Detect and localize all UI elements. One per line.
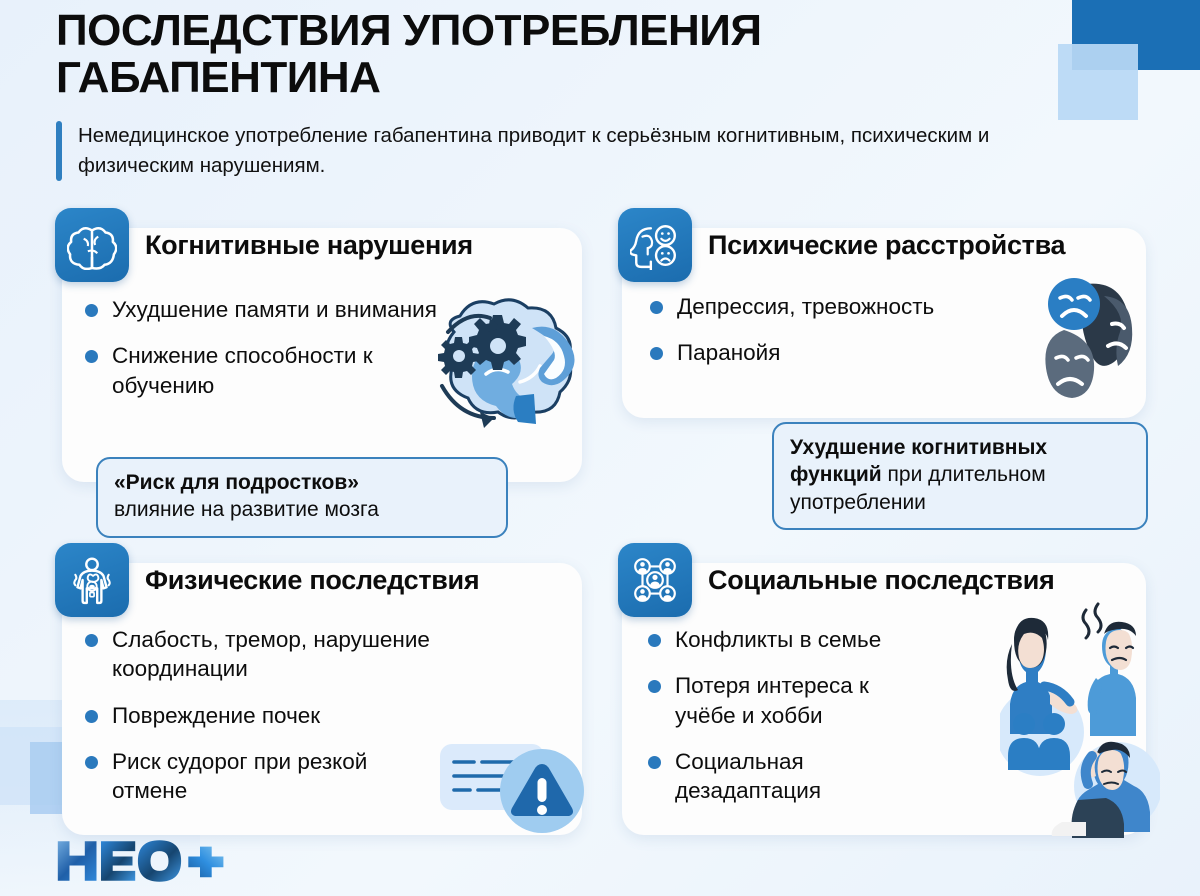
bullet-dot-icon: [648, 680, 661, 693]
list-item: Конфликты в семье: [648, 625, 988, 654]
callout-teen-risk-bold: «Риск для подростков»: [114, 471, 359, 494]
bullet-dot-icon: [650, 301, 663, 314]
decor-top-right-square-light: [1058, 44, 1138, 120]
callout-teen-risk: «Риск для подростков» влияние на развити…: [96, 457, 508, 538]
badge-physical: [55, 543, 129, 617]
bullet-dot-icon: [648, 634, 661, 647]
page-title: ПОСЛЕДСТВИЯ УПОТРЕБЛЕНИЯ ГАБАПЕНТИНА: [56, 8, 1056, 101]
list-item: Депрессия, тревожность: [650, 292, 1050, 321]
callout-teen-risk-rest: влияние на развитие мозга: [114, 498, 379, 521]
bullet-text: Риск судорог при резкой отмене: [112, 747, 402, 806]
list-item: Риск судорог при резкой отмене: [85, 747, 485, 806]
bullet-text: Ухудшение памяти и внимания: [112, 295, 437, 324]
human-body-icon: [67, 555, 117, 605]
brain-icon: [67, 220, 117, 270]
bullet-dot-icon: [648, 756, 661, 769]
bullet-dot-icon: [85, 350, 98, 363]
badge-cognitive: [55, 208, 129, 282]
callout-long-term: Ухудшение когнитивных функций при длител…: [772, 422, 1148, 530]
bullet-dot-icon: [650, 347, 663, 360]
card-title-physical: Физические последствия: [145, 565, 479, 596]
bullet-text: Повреждение почек: [112, 701, 320, 730]
bullet-dot-icon: [85, 634, 98, 647]
head-emotions-icon: [630, 220, 680, 270]
people-network-icon: [630, 555, 680, 605]
bullet-text: Депрессия, тревожность: [677, 292, 934, 321]
list-item: Снижение способности к обучению: [85, 341, 445, 400]
bullet-text: Потеря интереса к учёбе и хобби: [675, 671, 920, 730]
bullet-list-social: Конфликты в семье Потеря интереса к учёб…: [648, 625, 988, 822]
bullet-dot-icon: [85, 756, 98, 769]
list-item: Ухудшение памяти и внимания: [85, 295, 445, 324]
card-title-social: Социальные последствия: [708, 565, 1054, 596]
page-title-line-2: ГАБАПЕНТИНА: [56, 55, 1056, 102]
bullet-text: Снижение способности к обучению: [112, 341, 445, 400]
bullet-list-psychological: Депрессия, тревожность Паранойя: [650, 292, 1050, 385]
header: ПОСЛЕДСТВИЯ УПОТРЕБЛЕНИЯ ГАБАПЕНТИНА Нем…: [56, 8, 1056, 181]
bullet-text: Конфликты в семье: [675, 625, 881, 654]
bullet-dot-icon: [85, 710, 98, 723]
list-item: Потеря интереса к учёбе и хобби: [648, 671, 988, 730]
bullet-dot-icon: [85, 304, 98, 317]
subtitle-block: Немедицинское употребление габапентина п…: [56, 121, 1056, 180]
subtitle-text: Немедицинское употребление габапентина п…: [78, 121, 1008, 180]
subtitle-accent-bar: [56, 121, 62, 180]
bullet-text: Социальная дезадаптация: [675, 747, 900, 806]
card-title-cognitive: Когнитивные нарушения: [145, 230, 473, 261]
list-item: Социальная дезадаптация: [648, 747, 988, 806]
bullet-list-cognitive: Ухудшение памяти и внимания Снижение спо…: [85, 295, 445, 417]
bullet-text: Слабость, тремор, нарушение координации: [112, 625, 485, 684]
badge-psychological: [618, 208, 692, 282]
list-item: Паранойя: [650, 338, 1050, 367]
bullet-text: Паранойя: [677, 338, 780, 367]
bullet-list-physical: Слабость, тремор, нарушение координации …: [85, 625, 485, 822]
card-title-psychological: Психические расстройства: [708, 230, 1065, 261]
list-item: Слабость, тремор, нарушение координации: [85, 625, 485, 684]
badge-social: [618, 543, 692, 617]
brand-logo: НЕО+: [56, 838, 236, 884]
list-item: Повреждение почек: [85, 701, 485, 730]
page-title-line-1: ПОСЛЕДСТВИЯ УПОТРЕБЛЕНИЯ: [56, 8, 1056, 55]
